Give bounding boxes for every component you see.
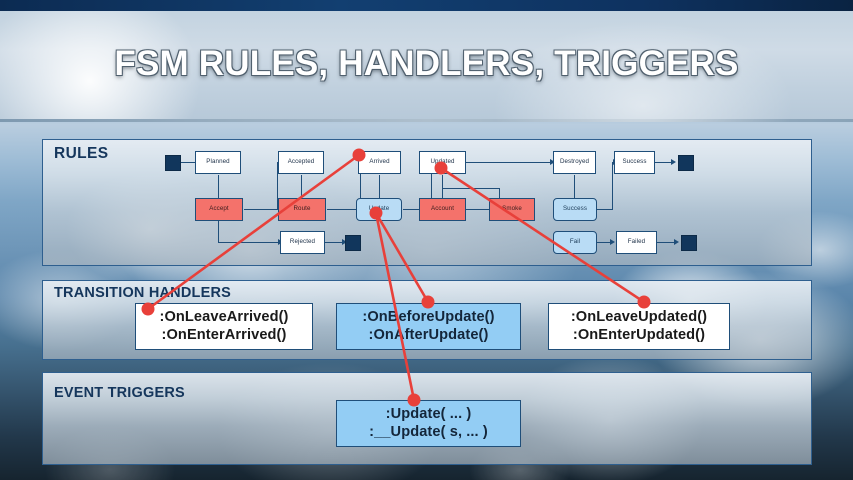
fsm-node-fail[interactable]: Fail (553, 231, 597, 254)
fsm-node-accepted[interactable]: Accepted (278, 151, 324, 174)
fsm-node-success2[interactable]: Success (553, 198, 597, 221)
edge-accept-right (244, 209, 278, 210)
fsm-node-failed[interactable]: Failed (616, 231, 657, 254)
rules-section-title: RULES (54, 145, 109, 163)
handler-arrived-line2: :OnEnterArrived() (162, 327, 287, 344)
fsm-node-accept[interactable]: Accept (195, 198, 243, 221)
handler-updated-line1: :OnLeaveUpdated() (571, 309, 707, 326)
arrowhead-success1-end (671, 159, 676, 165)
fsm-node-success1[interactable]: Success (614, 151, 655, 174)
edge-accept-rejected (218, 242, 282, 243)
handler-updated-line2: :OnEnterUpdated() (573, 327, 705, 344)
fsm-node-end2 (345, 235, 361, 251)
fsm-node-updated[interactable]: Updated (419, 151, 466, 174)
event-triggers-section-title: EVENT TRIGGERS (54, 385, 185, 401)
trigger-update-line2: :__Update( s, ... ) (369, 424, 488, 441)
handler-box-arrived[interactable]: :OnLeaveArrived() :OnEnterArrived() (135, 303, 313, 350)
trigger-box-update[interactable]: :Update( ... ) :__Update( s, ... ) (336, 400, 521, 447)
slide-canvas: FSM RULES, HANDLERS, TRIGGERS RULES (0, 0, 853, 480)
handler-arrived-line1: :OnLeaveArrived() (159, 309, 288, 326)
title-band-underline (0, 119, 853, 122)
fsm-node-update[interactable]: Update (356, 198, 402, 221)
edge-success2-right (597, 209, 613, 210)
edge-account-smoke (466, 209, 490, 210)
fsm-node-destroyed[interactable]: Destroyed (553, 151, 596, 174)
fsm-node-account[interactable]: Account (419, 198, 466, 221)
edge-updated-smoke-h (442, 188, 500, 189)
fsm-node-start1 (165, 155, 181, 171)
fsm-node-rejected[interactable]: Rejected (280, 231, 325, 254)
page-title: FSM RULES, HANDLERS, TRIGGERS (0, 44, 853, 84)
arrowhead-fail-failed (610, 239, 615, 245)
transition-handlers-section-title: TRANSITION HANDLERS (54, 285, 231, 301)
handler-box-update[interactable]: :OnBeforeUpdate() :OnAfterUpdate() (336, 303, 521, 350)
fsm-node-planned[interactable]: Planned (195, 151, 241, 174)
edge-updated-destroyed (466, 162, 554, 163)
top-accent-band (0, 0, 853, 11)
arrowhead-failed-end (674, 239, 679, 245)
handler-update-line2: :OnAfterUpdate() (369, 327, 489, 344)
handler-box-updated[interactable]: :OnLeaveUpdated() :OnEnterUpdated() (548, 303, 730, 350)
fsm-node-smoke[interactable]: Smoke (489, 198, 535, 221)
fsm-node-end3 (681, 235, 697, 251)
fsm-node-arrived[interactable]: Arrived (358, 151, 401, 174)
fsm-node-end1 (678, 155, 694, 171)
handler-update-line1: :OnBeforeUpdate() (362, 309, 494, 326)
trigger-update-line1: :Update( ... ) (386, 406, 472, 423)
fsm-node-route[interactable]: Route (278, 198, 326, 221)
